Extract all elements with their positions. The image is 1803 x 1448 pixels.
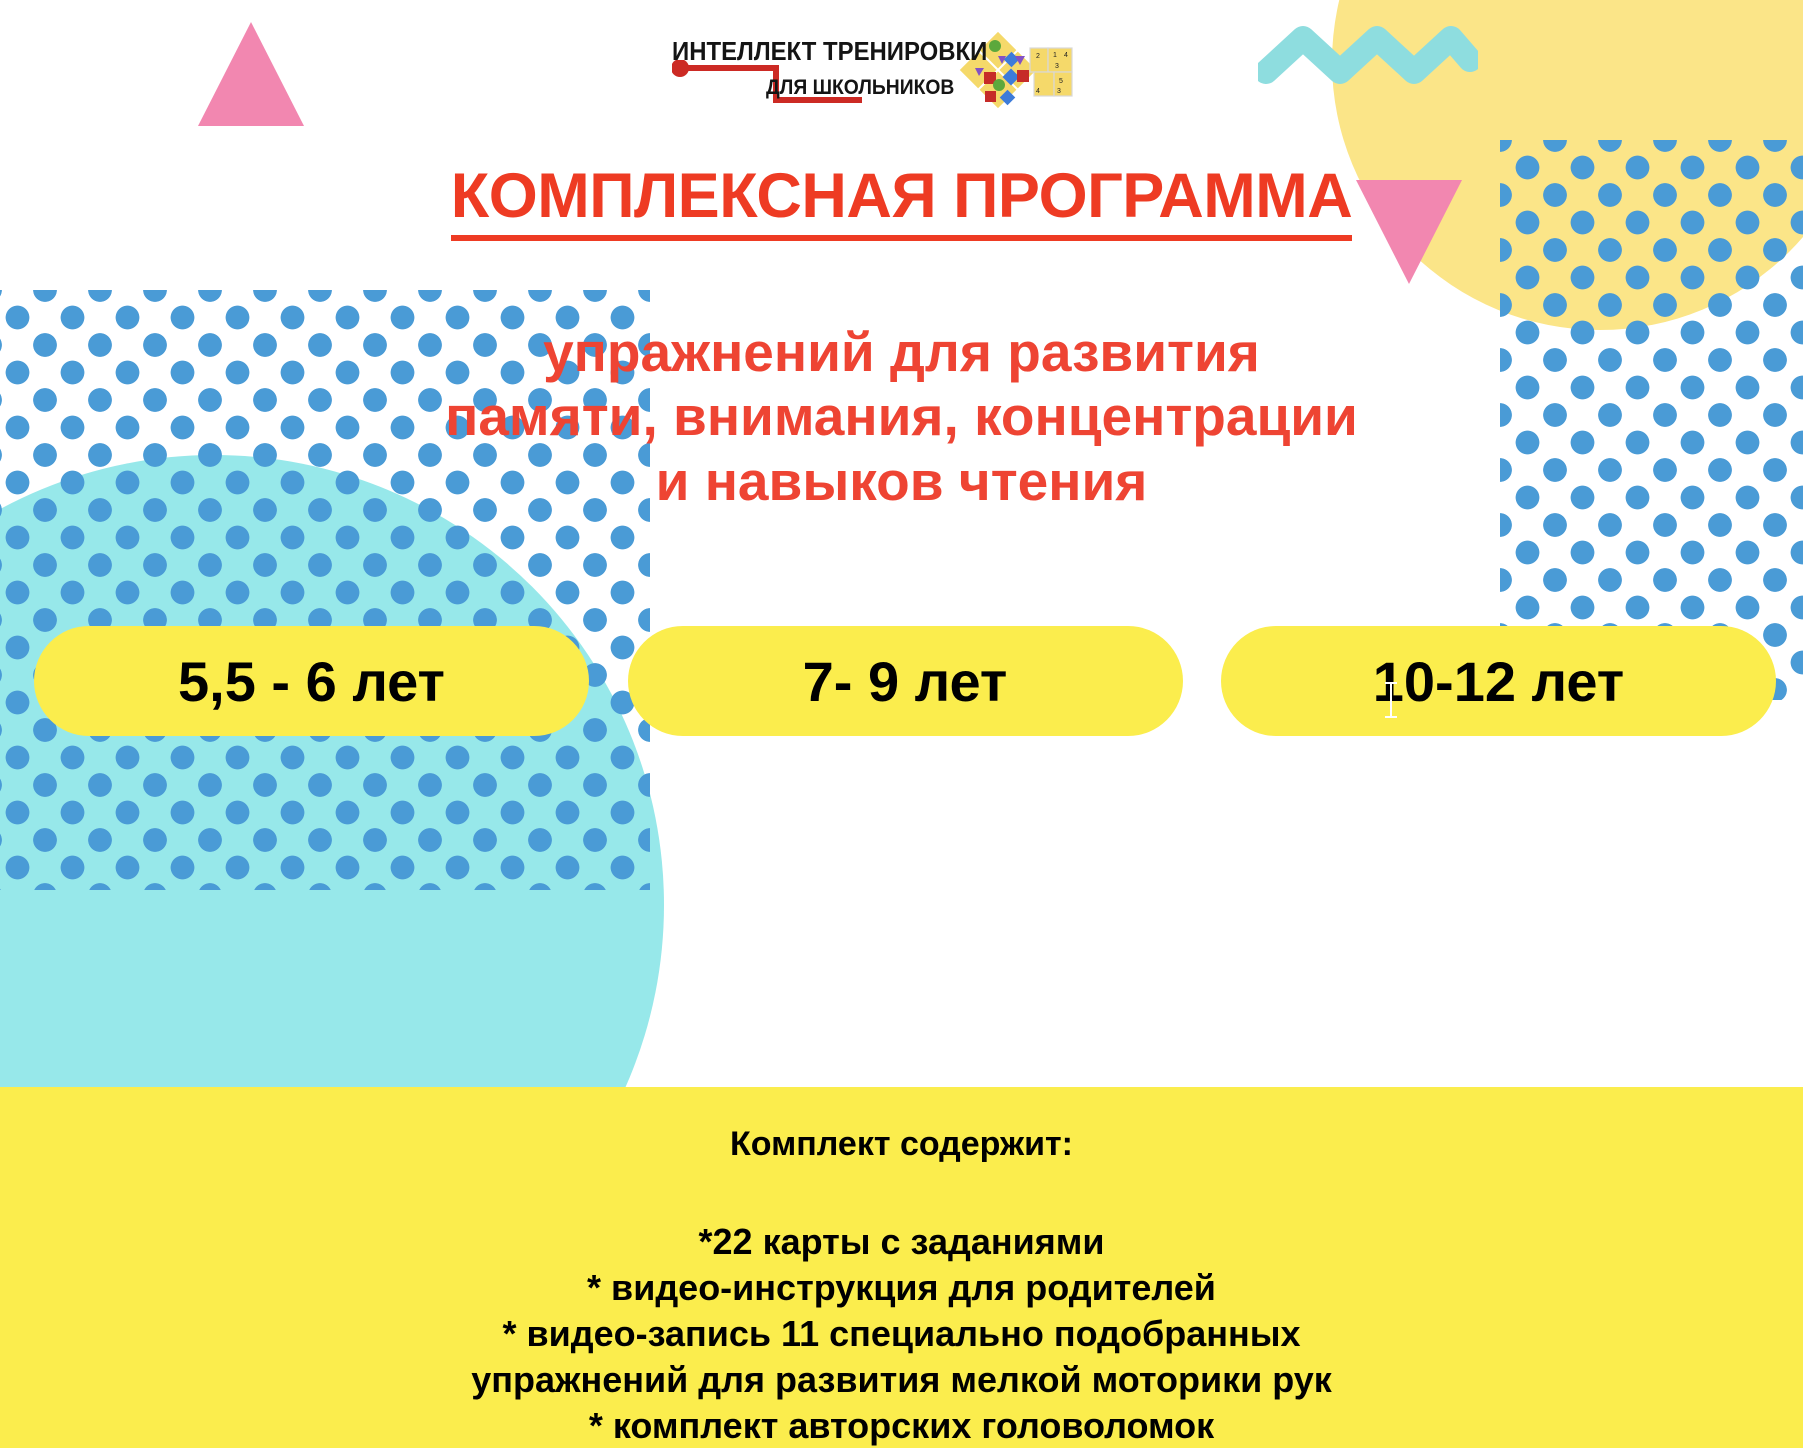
contents-item-2: * видео-инструкция для родителей xyxy=(0,1265,1803,1311)
page-subtitle-line-2: памяти, внимания, концентрации xyxy=(0,384,1803,448)
teal-zigzag-icon xyxy=(1258,22,1478,100)
contents-block: Комплект содержит: *22 карты с заданиями… xyxy=(0,1125,1803,1448)
page-title-text: КОМПЛЕКСНАЯ ПРОГРАММА xyxy=(451,161,1352,241)
logo-wordmark: ИНТЕЛЛЕКТ ТРЕНИРОВКИ ДЛЯ ШКОЛЬНИКОВ xyxy=(672,30,950,110)
page-subtitle-line-1: упражнений для развития xyxy=(0,320,1803,384)
svg-text:5: 5 xyxy=(1059,78,1063,85)
svg-text:3: 3 xyxy=(1057,88,1061,95)
svg-text:4: 4 xyxy=(1036,88,1040,95)
page-subtitle-line-3: и навыков чтения xyxy=(0,449,1803,513)
svg-text:1: 1 xyxy=(1053,52,1057,59)
page-subtitle: упражнений для развития памяти, внимания… xyxy=(0,320,1803,513)
text-cursor-ibeam xyxy=(1385,682,1397,718)
logo-line-1: ИНТЕЛЛЕКТ ТРЕНИРОВКИ xyxy=(672,36,987,67)
age-button-10-12[interactable]: 10-12 лет xyxy=(1221,626,1776,736)
contents-item-5: * комплект авторских головоломок xyxy=(0,1403,1803,1448)
contents-title: Комплект содержит: xyxy=(0,1125,1803,1164)
poster-canvas: ИНТЕЛЛЕКТ ТРЕНИРОВКИ ДЛЯ ШКОЛЬНИКОВ xyxy=(0,0,1803,1448)
contents-item-1: *22 карты с заданиями xyxy=(0,1219,1803,1265)
svg-text:4: 4 xyxy=(1064,52,1068,59)
contents-item-4: упражнений для развития мелкой моторики … xyxy=(0,1357,1803,1403)
svg-text:2: 2 xyxy=(1036,53,1040,60)
age-group-button-row: 5,5 - 6 лет 7- 9 лет 10-12 лет xyxy=(34,626,1776,736)
brand-logo: ИНТЕЛЛЕКТ ТРЕНИРОВКИ ДЛЯ ШКОЛЬНИКОВ xyxy=(672,26,1082,114)
logo-line-2: ДЛЯ ШКОЛЬНИКОВ xyxy=(766,76,954,100)
contents-item-3: * видео-запись 11 специально подобранных xyxy=(0,1311,1803,1357)
age-button-7-9[interactable]: 7- 9 лет xyxy=(628,626,1183,736)
svg-text:3: 3 xyxy=(1055,63,1059,70)
pink-triangle-up-icon xyxy=(198,22,304,126)
age-button-5-6[interactable]: 5,5 - 6 лет xyxy=(34,626,589,736)
page-title: КОМПЛЕКСНАЯ ПРОГРАММА xyxy=(0,160,1803,232)
